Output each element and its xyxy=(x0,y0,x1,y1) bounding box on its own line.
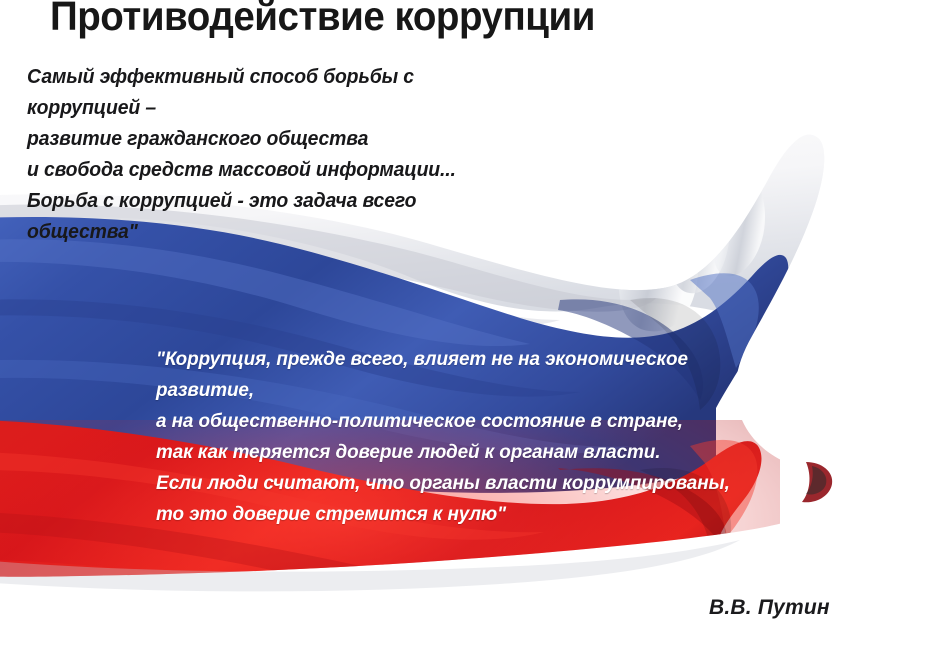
poster-root: Противодействие коррупции Самый эффектив… xyxy=(0,0,938,664)
quote-block-bottom: "Коррупция, прежде всего, влияет не на э… xyxy=(156,344,856,530)
quote-line: "Коррупция, прежде всего, влияет не на э… xyxy=(156,344,835,375)
quote-line: Борьба с коррупцией - это задача всего xyxy=(27,186,493,217)
quote-line: развитие гражданского общества xyxy=(27,124,493,155)
quote-line: а на общественно-политическое состояние … xyxy=(156,406,835,437)
page-title: Противодействие коррупции xyxy=(50,0,595,37)
quote-line: Самый эффективный способ борьбы с xyxy=(27,62,493,93)
quote-line: так как теряется доверие людей к органам… xyxy=(156,437,835,468)
quote-line: Если люди считают, что органы власти кор… xyxy=(156,468,835,499)
quote-attribution: В.В. Путин xyxy=(709,596,830,620)
quote-block-top: Самый эффективный способ борьбы с корруп… xyxy=(27,62,507,248)
quote-line: развитие, xyxy=(156,375,835,406)
quote-line: и свобода средств массовой информации... xyxy=(27,155,493,186)
quote-line: то это доверие стремится к нулю" xyxy=(156,499,835,530)
quote-line: общества" xyxy=(27,217,493,248)
quote-line: коррупцией – xyxy=(27,93,493,124)
